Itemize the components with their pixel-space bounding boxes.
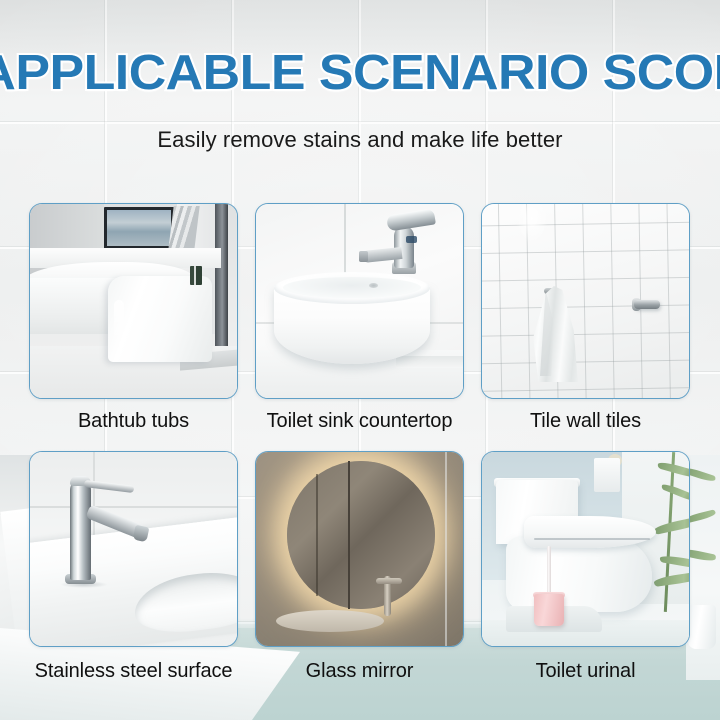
gloss-highlight: [114, 300, 124, 348]
scenario-card-glass-mirror[interactable]: Glass mirror: [255, 451, 464, 683]
card-image-bathtub[interactable]: [29, 203, 238, 399]
toilet-seat: [524, 516, 656, 548]
vanity-basin: [276, 610, 384, 632]
trash-bin: [688, 605, 716, 649]
scenario-card-stainless-steel-surface[interactable]: Stainless steel surface: [29, 451, 238, 683]
wall-corner-seam: [445, 452, 447, 647]
toilet-brush-holder: [534, 594, 564, 626]
card-caption: Glass mirror: [255, 660, 464, 683]
round-mirror: [287, 461, 435, 609]
vessel-sink-scene: [256, 204, 463, 398]
card-row-top: Bathtub tubs: [29, 203, 691, 433]
shampoo-bottles: [190, 266, 202, 285]
infographic-page: APPLICABLE SCENARIO SCOPE Easily remove …: [0, 0, 720, 720]
door-edge: [348, 461, 350, 609]
towel-bar: [634, 300, 660, 309]
overflow-drain: [369, 283, 378, 288]
chrome-faucet-scene: [30, 452, 237, 646]
scenario-card-grid: Bathtub tubs: [29, 203, 691, 683]
floor-strip: [396, 356, 464, 368]
scenario-card-bathtub-tubs[interactable]: Bathtub tubs: [29, 203, 238, 433]
page-title: APPLICABLE SCENARIO SCOPE: [0, 45, 720, 101]
faucet-badge: [406, 236, 417, 243]
scenario-card-toilet-urinal[interactable]: Toilet urinal: [481, 451, 690, 683]
card-row-bottom: Stainless steel surface: [29, 451, 691, 683]
toilet-scene: [482, 452, 689, 646]
card-image-chrome-faucet[interactable]: [29, 451, 238, 647]
card-caption: Bathtub tubs: [29, 410, 238, 433]
light-sheen: [516, 203, 548, 244]
bathtub-scene: [30, 204, 237, 398]
scenario-card-toilet-sink-countertop[interactable]: Toilet sink countertop: [255, 203, 464, 433]
door-frame-line: [316, 474, 318, 596]
faucet-aerator: [359, 251, 368, 262]
card-caption: Tile wall tiles: [481, 410, 690, 433]
hanging-towel: [168, 206, 199, 250]
card-image-tile-wall[interactable]: [481, 203, 690, 399]
toilet-paper: [594, 458, 620, 492]
tile-wall-scene: [482, 204, 689, 398]
vanity-faucet-spout: [376, 578, 402, 584]
card-image-vessel-sink[interactable]: [255, 203, 464, 399]
card-caption: Toilet sink countertop: [255, 410, 464, 433]
tile-seam-horizontal: [30, 506, 238, 508]
faucet-column: [70, 480, 91, 580]
card-caption: Toilet urinal: [481, 660, 690, 683]
plant-bleed-right: [686, 455, 720, 680]
window: [104, 207, 174, 249]
card-image-toilet[interactable]: [481, 451, 690, 647]
round-mirror-scene: [256, 452, 463, 646]
card-image-glass-mirror[interactable]: [255, 451, 464, 647]
page-subtitle: Easily remove stains and make life bette…: [0, 127, 720, 153]
seat-gap-line: [534, 538, 650, 540]
scenario-card-tile-wall-tiles[interactable]: Tile wall tiles: [481, 203, 690, 433]
sink-interior: [283, 277, 421, 298]
card-caption: Stainless steel surface: [29, 660, 238, 683]
